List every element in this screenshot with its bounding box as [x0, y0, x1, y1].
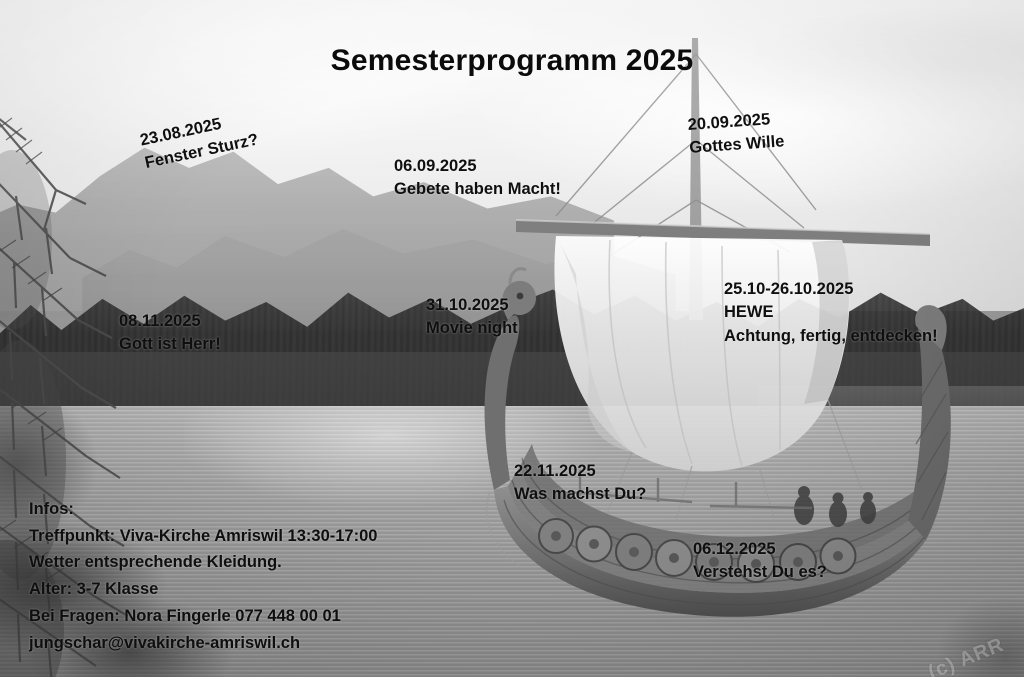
event-topic: Movie night — [426, 317, 518, 340]
infos-heading: Infos: — [29, 496, 377, 523]
event-entry-gebete-haben-macht: 06.09.2025 Gebete haben Macht! — [394, 155, 561, 202]
infos-contact-phone: Bei Fragen: Nora Fingerle 077 448 00 01 — [29, 603, 377, 630]
event-date: 31.10.2025 — [426, 294, 518, 317]
infos-age: Alter: 3-7 Klasse — [29, 576, 377, 603]
event-topic: Gott ist Herr! — [119, 333, 221, 356]
page-title: Semesterprogramm 2025 — [0, 40, 1024, 83]
event-entry-movie-night: 31.10.2025 Movie night — [426, 294, 518, 341]
event-entry-was-machst-du: 22.11.2025 Was machst Du? — [514, 460, 646, 507]
event-date: 06.12.2025 — [693, 538, 827, 561]
event-topic: Gebete haben Macht! — [394, 178, 561, 201]
event-entry-hewe: 25.10-26.10.2025 HEWE Achtung, fertig, e… — [724, 278, 938, 348]
event-topic: Was machst Du? — [514, 483, 646, 506]
event-topic: Achtung, fertig, entdecken! — [724, 325, 938, 348]
event-name: HEWE — [724, 301, 938, 324]
event-entry-gott-ist-herr: 08.11.2025 Gott ist Herr! — [119, 310, 221, 357]
event-date: 25.10-26.10.2025 — [724, 278, 938, 301]
infos-clothing: Wetter entsprechende Kleidung. — [29, 549, 377, 576]
infos-contact-email: jungschar@vivakirche-amriswil.ch — [29, 630, 377, 657]
event-date: 22.11.2025 — [514, 460, 646, 483]
infos-meeting-point: Treffpunkt: Viva-Kirche Amriswil 13:30-1… — [29, 523, 377, 550]
event-date: 06.09.2025 — [394, 155, 561, 178]
infos-block: Infos: Treffpunkt: Viva-Kirche Amriswil … — [29, 496, 377, 656]
event-entry-gottes-wille: 20.09.2025 Gottes Wille — [687, 107, 785, 160]
event-entry-verstehst-du-es: 06.12.2025 Verstehst Du es? — [693, 538, 827, 585]
poster-canvas: Semesterprogramm 2025 23.08.2025 Fenster… — [0, 0, 1024, 677]
event-date: 08.11.2025 — [119, 310, 221, 333]
event-topic: Verstehst Du es? — [693, 561, 827, 584]
